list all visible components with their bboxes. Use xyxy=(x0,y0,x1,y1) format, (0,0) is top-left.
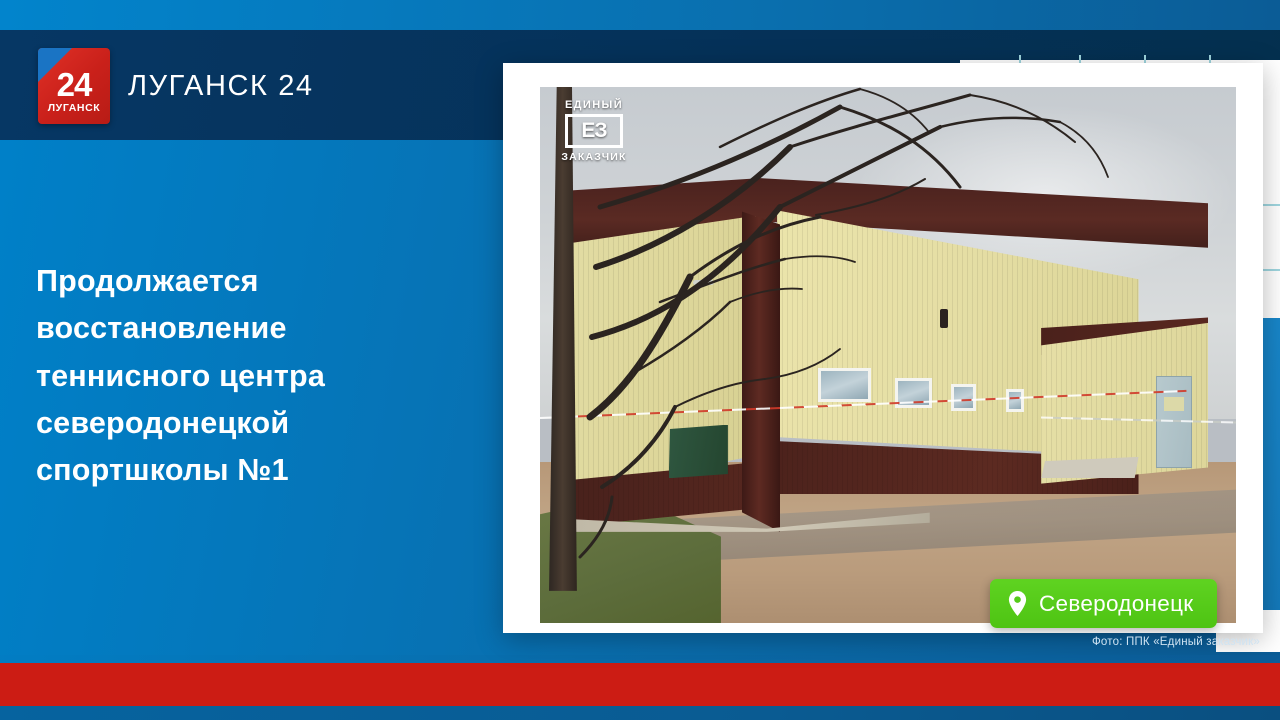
headline-line-3: теннисного центра xyxy=(36,353,456,400)
red-accent-stripe xyxy=(0,663,1280,706)
logo-city-label: ЛУГАНСК xyxy=(38,103,110,114)
channel-logo-icon: 24 ЛУГАНСК xyxy=(38,48,110,124)
headline-line-5: спортшколы №1 xyxy=(36,447,456,494)
news-graphic-card: 24 ЛУГАНСК ЛУГАНСК 24 Продолжается восст… xyxy=(0,0,1280,720)
watermark-bottom-label: ЗАКАЗЧИК xyxy=(555,151,633,163)
location-badge[interactable]: Северодонецк xyxy=(990,579,1217,628)
headline-line-1: Продолжается xyxy=(36,258,456,305)
channel-brand: 24 ЛУГАНСК ЛУГАНСК 24 xyxy=(38,48,314,124)
photo-watermark: ЕДИНЫЙ ЕЗ ЗАКАЗЧИК xyxy=(555,99,633,163)
headline: Продолжается восстановление теннисного ц… xyxy=(36,258,456,494)
tree-branches xyxy=(540,87,1236,623)
location-label: Северодонецк xyxy=(1039,591,1193,617)
map-pin-icon xyxy=(1008,591,1027,616)
headline-line-4: северодонецкой xyxy=(36,400,456,447)
logo-number: 24 xyxy=(38,68,110,101)
channel-title: ЛУГАНСК 24 xyxy=(128,70,314,103)
news-photo: ЕДИНЫЙ ЕЗ ЗАКАЗЧИК xyxy=(540,87,1236,623)
headline-line-2: восстановление xyxy=(36,305,456,352)
bottom-accent-strip xyxy=(0,706,1280,720)
top-accent-strip xyxy=(0,0,1280,30)
watermark-top-label: ЕДИНЫЙ xyxy=(555,99,633,111)
watermark-mark: ЕЗ xyxy=(565,114,623,148)
photo-credit: Фото: ППК «Единый заказчик» xyxy=(1055,636,1260,648)
